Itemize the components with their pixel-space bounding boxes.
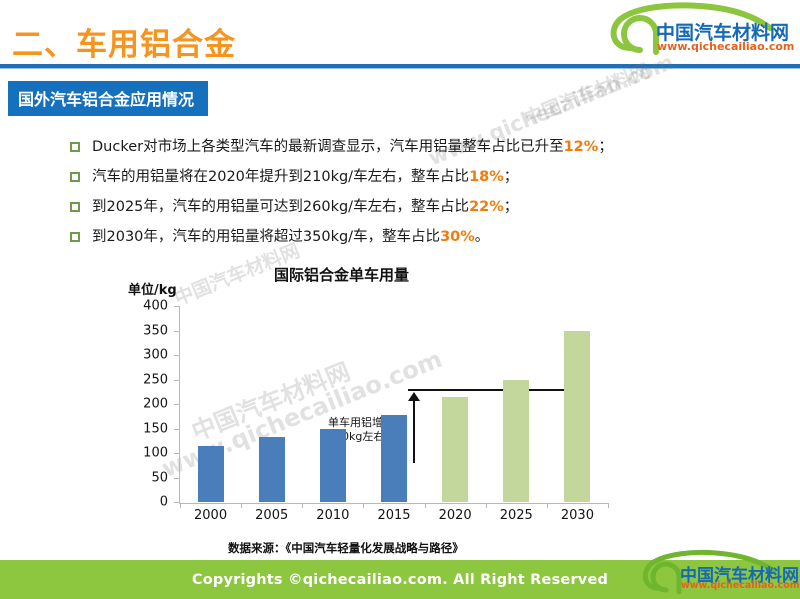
chart-bar bbox=[442, 397, 468, 502]
header-divider-secondary bbox=[0, 68, 800, 69]
x-axis-tick-label: 2030 bbox=[547, 508, 607, 523]
bullet-square-icon bbox=[70, 172, 80, 182]
bullet-highlight-value: 22% bbox=[469, 199, 504, 215]
y-axis-tick-mark bbox=[174, 306, 179, 307]
bullet-text-post: ； bbox=[504, 199, 519, 215]
logo-url-text: www.qichecailiao.com bbox=[657, 40, 794, 53]
annotation-bracket-line bbox=[408, 389, 583, 391]
annotation-arrow-shaft bbox=[413, 398, 415, 463]
y-axis-tick-mark bbox=[174, 404, 179, 405]
y-axis-tick-mark bbox=[174, 331, 179, 332]
x-axis-tick-mark bbox=[180, 503, 181, 508]
bullet-text-post: 。 bbox=[475, 229, 490, 245]
bullet-highlight-value: 30% bbox=[440, 229, 475, 245]
bullet-list: Ducker对市场上各类型汽车的最新调查显示，汽车用铝量整车占比已升至12%；汽… bbox=[70, 137, 760, 257]
y-axis-tick-mark bbox=[174, 502, 179, 503]
y-axis-tick-label: 100 bbox=[124, 447, 168, 460]
section-banner-label: 国外汽车铝合金应用情况 bbox=[18, 90, 194, 109]
x-axis-tick-label: 2015 bbox=[364, 508, 424, 523]
y-axis-tick-label: 50 bbox=[124, 471, 168, 484]
bullet-text: Ducker对市场上各类型汽车的最新调查显示，汽车用铝量整车占比已升至12%； bbox=[92, 137, 613, 157]
bullet-text-post: ； bbox=[598, 139, 613, 155]
x-axis-tick-label: 2010 bbox=[303, 508, 363, 523]
slide-root: 二、车用铝合金 中国汽车材料网 www.qichecailiao.com 国外汽… bbox=[0, 0, 800, 599]
bullet-square-icon bbox=[70, 202, 80, 212]
bullet-text-pre: 汽车的用铝量将在2020年提升到210kg/车左右，整车占比 bbox=[92, 169, 469, 185]
y-axis-tick-label: 250 bbox=[124, 373, 168, 386]
page-title: 二、车用铝合金 bbox=[12, 19, 236, 64]
bullet-highlight-value: 12% bbox=[564, 139, 599, 155]
y-axis-tick-label: 350 bbox=[124, 324, 168, 337]
x-axis-tick-label: 2005 bbox=[242, 508, 302, 523]
chart-bar bbox=[564, 331, 590, 503]
slide-header: 二、车用铝合金 中国汽车材料网 www.qichecailiao.com bbox=[0, 0, 800, 70]
y-axis-tick-mark bbox=[174, 355, 179, 356]
annotation-arrow-head bbox=[408, 392, 420, 401]
bullet-text-pre: Ducker对市场上各类型汽车的最新调查显示，汽车用铝量整车占比已升至 bbox=[92, 139, 564, 155]
chart-title: 国际铝合金单车用量 bbox=[274, 264, 409, 285]
bullet-square-icon bbox=[70, 232, 80, 242]
chart-source-note: 数据来源：《中国汽车轻量化发展战略与路径》 bbox=[228, 540, 464, 556]
x-axis-tick-mark bbox=[363, 503, 364, 508]
y-axis-tick-mark bbox=[174, 380, 179, 381]
bullet-item: 汽车的用铝量将在2020年提升到210kg/车左右，整车占比18%； bbox=[70, 167, 760, 187]
x-axis-tick-mark bbox=[302, 503, 303, 508]
bullet-item: 到2025年，汽车的用铝量可达到260kg/车左右，整车占比22%； bbox=[70, 197, 760, 217]
chart-bar bbox=[503, 380, 529, 503]
bullet-item: 到2030年，汽车的用铝量将超过350kg/车，整车占比30%。 bbox=[70, 227, 760, 247]
logo-url-text-bottom: www.qichecailiao.com bbox=[681, 580, 800, 591]
x-axis-tick-mark bbox=[425, 503, 426, 508]
y-axis-tick-label: 400 bbox=[124, 300, 168, 313]
y-axis-tick-mark bbox=[174, 429, 179, 430]
brand-logo-bottom: 中国汽车材料网 www.qichecailiao.com bbox=[636, 548, 796, 598]
bullet-square-icon bbox=[70, 142, 80, 152]
y-axis-tick-mark bbox=[174, 478, 179, 479]
chart-bar bbox=[320, 429, 346, 503]
chart-unit-label: 单位/kg bbox=[128, 279, 177, 298]
bullet-item: Ducker对市场上各类型汽车的最新调查显示，汽车用铝量整车占比已升至12%； bbox=[70, 137, 760, 157]
slide-footer: Copyrights ©qichecailiao.com. All Right … bbox=[0, 560, 800, 599]
section-banner: 国外汽车铝合金应用情况 bbox=[8, 81, 208, 116]
y-axis-tick-mark bbox=[174, 453, 179, 454]
brand-logo-top: 中国汽车材料网 www.qichecailiao.com bbox=[604, 2, 794, 62]
bullet-text-post: ； bbox=[504, 169, 519, 185]
chart-plot-area: 单车用铝增量 170kg左右 bbox=[180, 306, 608, 502]
x-axis-tick-label: 2025 bbox=[486, 508, 546, 523]
x-axis-tick-mark bbox=[241, 503, 242, 508]
chart-bar bbox=[259, 437, 285, 502]
bullet-text: 汽车的用铝量将在2020年提升到210kg/车左右，整车占比18%； bbox=[92, 167, 518, 187]
bullet-text: 到2025年，汽车的用铝量可达到260kg/车左右，整车占比22%； bbox=[92, 197, 518, 217]
y-axis-tick-label: 300 bbox=[124, 349, 168, 362]
x-axis-tick-mark bbox=[486, 503, 487, 508]
y-axis-tick-label: 150 bbox=[124, 422, 168, 435]
chart-bar bbox=[198, 446, 224, 502]
x-axis-tick-mark bbox=[547, 503, 548, 508]
bullet-text-pre: 到2025年，汽车的用铝量可达到260kg/车左右，整车占比 bbox=[92, 199, 469, 215]
x-axis-tick-label: 2020 bbox=[425, 508, 485, 523]
bullet-highlight-value: 18% bbox=[469, 169, 504, 185]
y-axis-tick-label: 200 bbox=[124, 398, 168, 411]
aluminium-usage-bar-chart: 国际铝合金单车用量 单位/kg 单车用铝增量 170kg左右 050100150… bbox=[124, 262, 624, 547]
bullet-text: 到2030年，汽车的用铝量将超过350kg/车，整车占比30%。 bbox=[92, 227, 489, 247]
bullet-text-pre: 到2030年，汽车的用铝量将超过350kg/车，整车占比 bbox=[92, 229, 440, 245]
x-axis-line bbox=[179, 503, 609, 504]
chart-bar bbox=[381, 415, 407, 502]
y-axis-tick-label: 0 bbox=[124, 496, 168, 509]
x-axis-tick-mark bbox=[608, 503, 609, 508]
x-axis-tick-label: 2000 bbox=[181, 508, 241, 523]
